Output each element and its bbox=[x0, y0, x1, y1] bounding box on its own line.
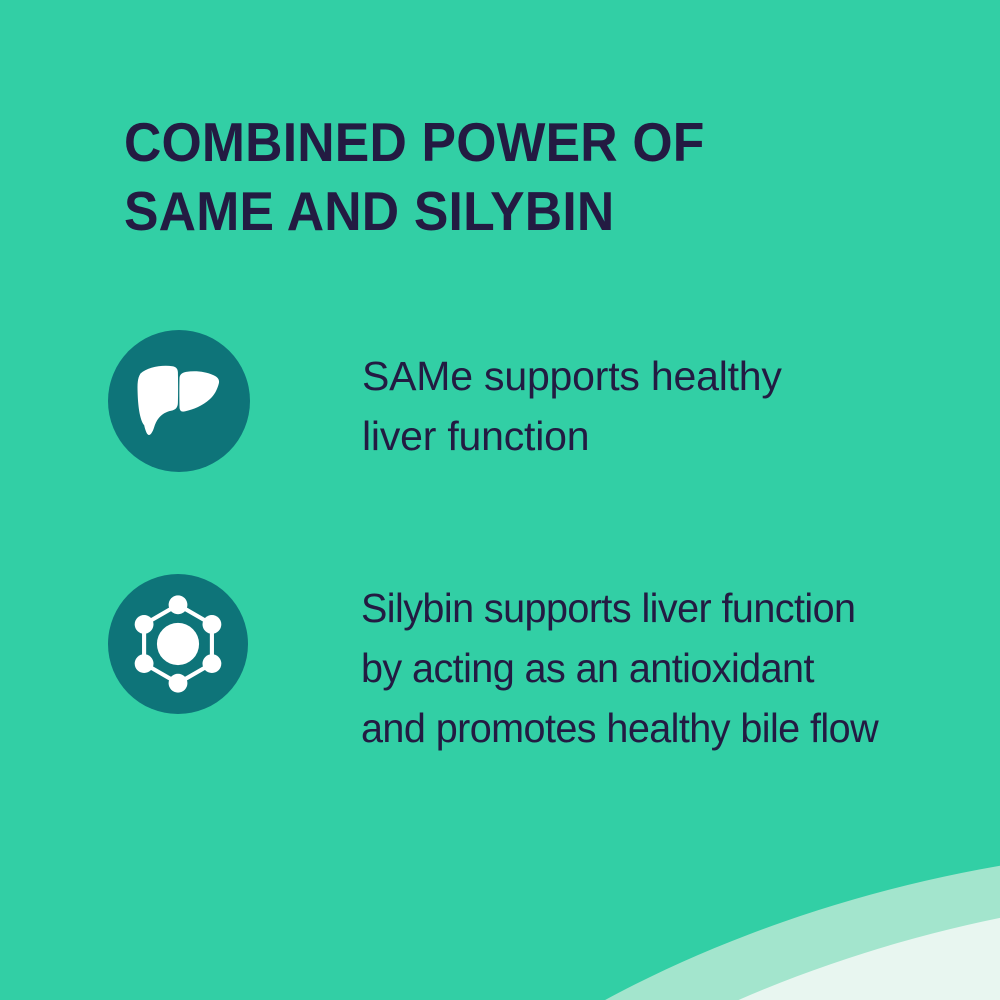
list-item: SAMe supports healthy liver function bbox=[108, 330, 988, 472]
page-title: COMBINED POWER OF SAME AND SILYBIN bbox=[124, 108, 838, 246]
list-item-label: SAMe supports healthy liver function bbox=[362, 346, 782, 466]
molecule-icon bbox=[108, 574, 248, 714]
liver-icon bbox=[108, 330, 250, 472]
infographic-poster: COMBINED POWER OF SAME AND SILYBIN SAMe … bbox=[0, 0, 1000, 1000]
list-item-label: Silybin supports liver function by actin… bbox=[361, 578, 878, 758]
arc-band-inner bbox=[256, 761, 1000, 1000]
list-item: Silybin supports liver function by actin… bbox=[108, 574, 988, 758]
